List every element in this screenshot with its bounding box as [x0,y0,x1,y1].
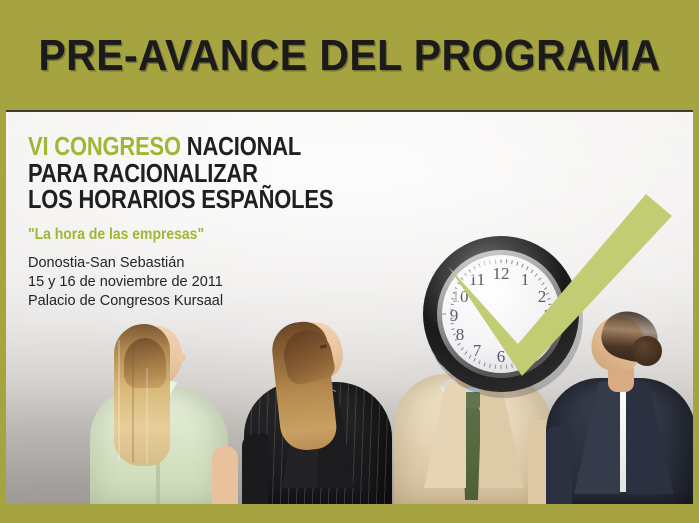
clock-numeral-9: 9 [450,306,459,325]
headline-line-2: PARA RACIONALIZAR [28,161,329,188]
poster-text-block: VI CONGRESO NACIONAL PARA RACIONALIZAR L… [28,134,378,311]
clock-numeral-4: 4 [538,325,547,344]
headline-green-part: VI CONGRESO [28,133,181,161]
nose [178,353,186,362]
clock-numeral-5: 5 [521,341,530,360]
hair-bun [632,336,662,366]
clock-numeral-3: 3 [544,306,553,325]
headline-black-part: NACIONAL [181,133,301,161]
hair-strand [118,340,120,460]
venue-place: Palacio de Congresos Kursaal [28,292,378,311]
clock-numeral-8: 8 [456,325,465,344]
venue-block: Donostia-San Sebastián 15 y 16 de noviem… [28,254,378,311]
clock-graphic: 12 1 2 3 4 5 6 7 8 9 10 11 [414,224,589,402]
bottom-olive-band [0,504,699,523]
person-pinstripe-woman [242,301,394,506]
headline-line-3: LOS HORARIOS ESPAÑOLES [28,187,329,214]
arm [212,446,238,506]
poster-quote: "La hora de las empresas" [28,226,343,244]
hair-strand [146,368,148,464]
arm [546,426,572,506]
venue-dates: 15 y 16 de noviembre de 2011 [28,273,378,292]
clock-numeral-12: 12 [493,264,510,283]
left-olive-strip [0,110,6,504]
header-band: PRE-AVANCE DEL PROGRAMA [0,0,699,110]
venue-city: Donostia-San Sebastián [28,254,378,273]
clock-numeral-2: 2 [538,287,547,306]
clock-numeral-7: 7 [473,341,482,360]
people-group [6,291,693,506]
poster-image: 12 1 2 3 4 5 6 7 8 9 10 11 [6,110,693,506]
slide-root: PRE-AVANCE DEL PROGRAMA [0,0,699,523]
arm [242,434,268,506]
clock-numeral-1: 1 [521,270,530,289]
headline-line-1: VI CONGRESO NACIONAL [28,134,329,161]
page-title: PRE-AVANCE DEL PROGRAMA [38,34,660,78]
right-olive-strip [693,110,699,504]
hair-strand [132,344,134,462]
hair-top [124,338,166,388]
clock-numeral-6: 6 [497,347,506,366]
wall-clock: 12 1 2 3 4 5 6 7 8 9 10 11 [414,224,589,402]
person-blonde-woman [84,306,234,506]
